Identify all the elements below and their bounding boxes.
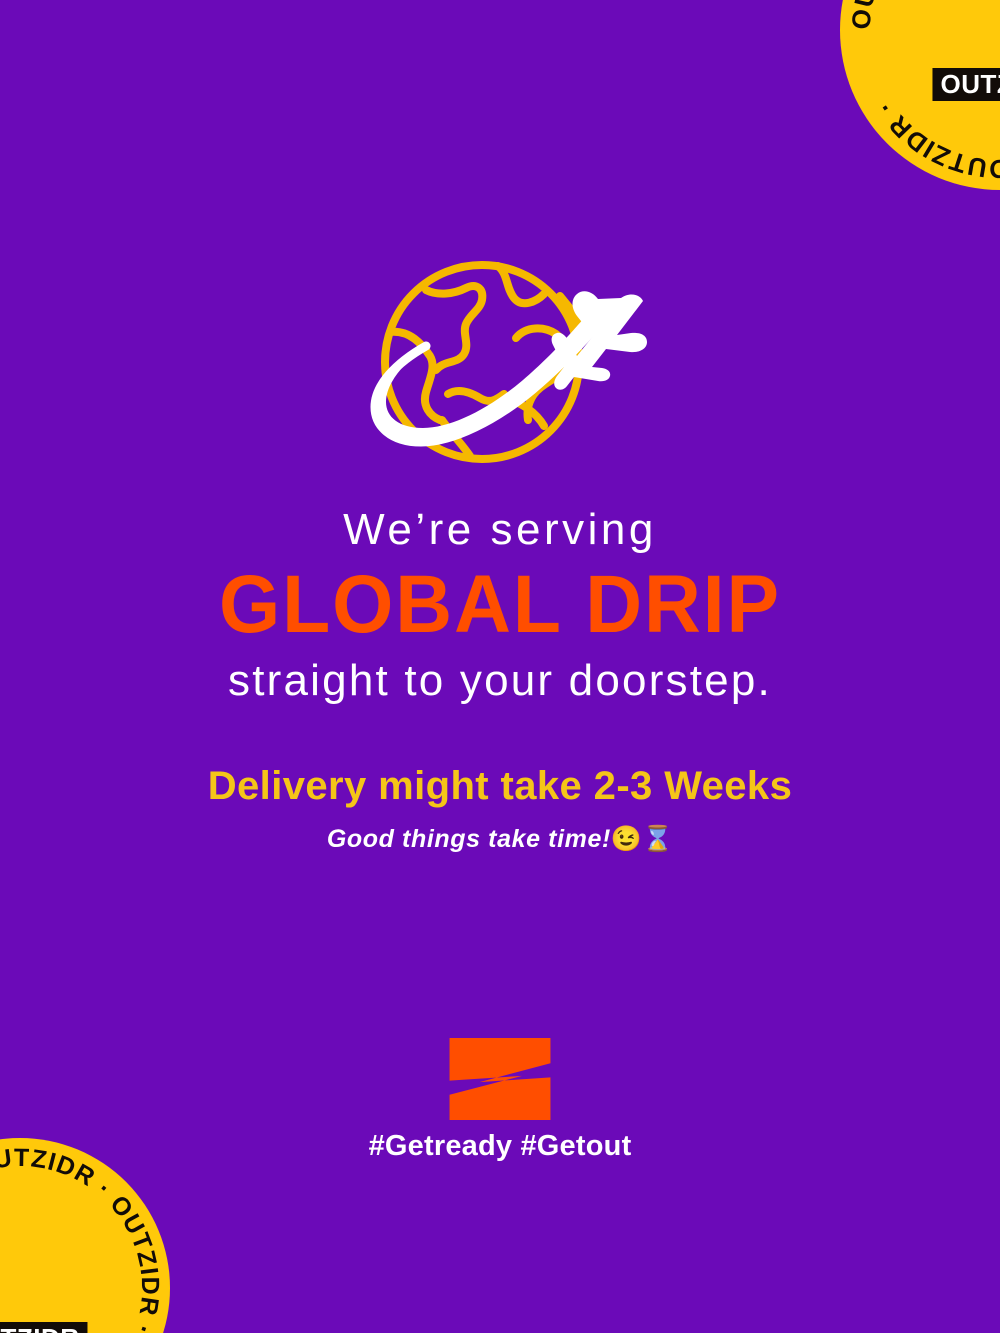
seal-wordmark-bottom-left: OUTZIDR xyxy=(0,1322,88,1333)
globe-with-airplane-icon xyxy=(330,252,670,472)
outzidr-seal-bottom-left: OUTZIDR · OUTZIDR · OUTZIDR · OUTZIDR · … xyxy=(0,1138,170,1333)
seal-wordmark-top-right: OUTZIDR xyxy=(932,68,1000,101)
footer-block: #Getready #Getout xyxy=(0,1038,1000,1161)
delivery-headline: Delivery might take 2-3 Weeks xyxy=(0,762,1000,810)
outzidr-seal-top-right: OUTZIDR · OUTZIDR · OUTZIDR · OUTZIDR · … xyxy=(840,0,1000,190)
footer-tagline: #Getready #Getout xyxy=(369,1132,632,1161)
headline-line-2: GLOBAL DRIP xyxy=(20,562,980,648)
headline-line-3: straight to your doorstep. xyxy=(0,656,1000,707)
headline-block: We’re serving GLOBAL DRIP straight to yo… xyxy=(0,505,1000,706)
delivery-subline-wrap: Good things take time!😉⌛ xyxy=(0,824,1000,854)
wink-and-hourglass-icon: 😉⌛ xyxy=(611,825,673,853)
headline-line-1: We’re serving xyxy=(0,505,1000,556)
hero-illustration xyxy=(0,252,1000,472)
poster-canvas: OUTZIDR · OUTZIDR · OUTZIDR · OUTZIDR · … xyxy=(0,0,1000,1333)
delivery-note-block: Delivery might take 2-3 Weeks Good thing… xyxy=(0,762,1000,854)
outzidr-z-mark xyxy=(446,1038,554,1120)
delivery-subline: Good things take time! xyxy=(327,825,611,853)
z-glyph-icon xyxy=(446,1038,554,1120)
